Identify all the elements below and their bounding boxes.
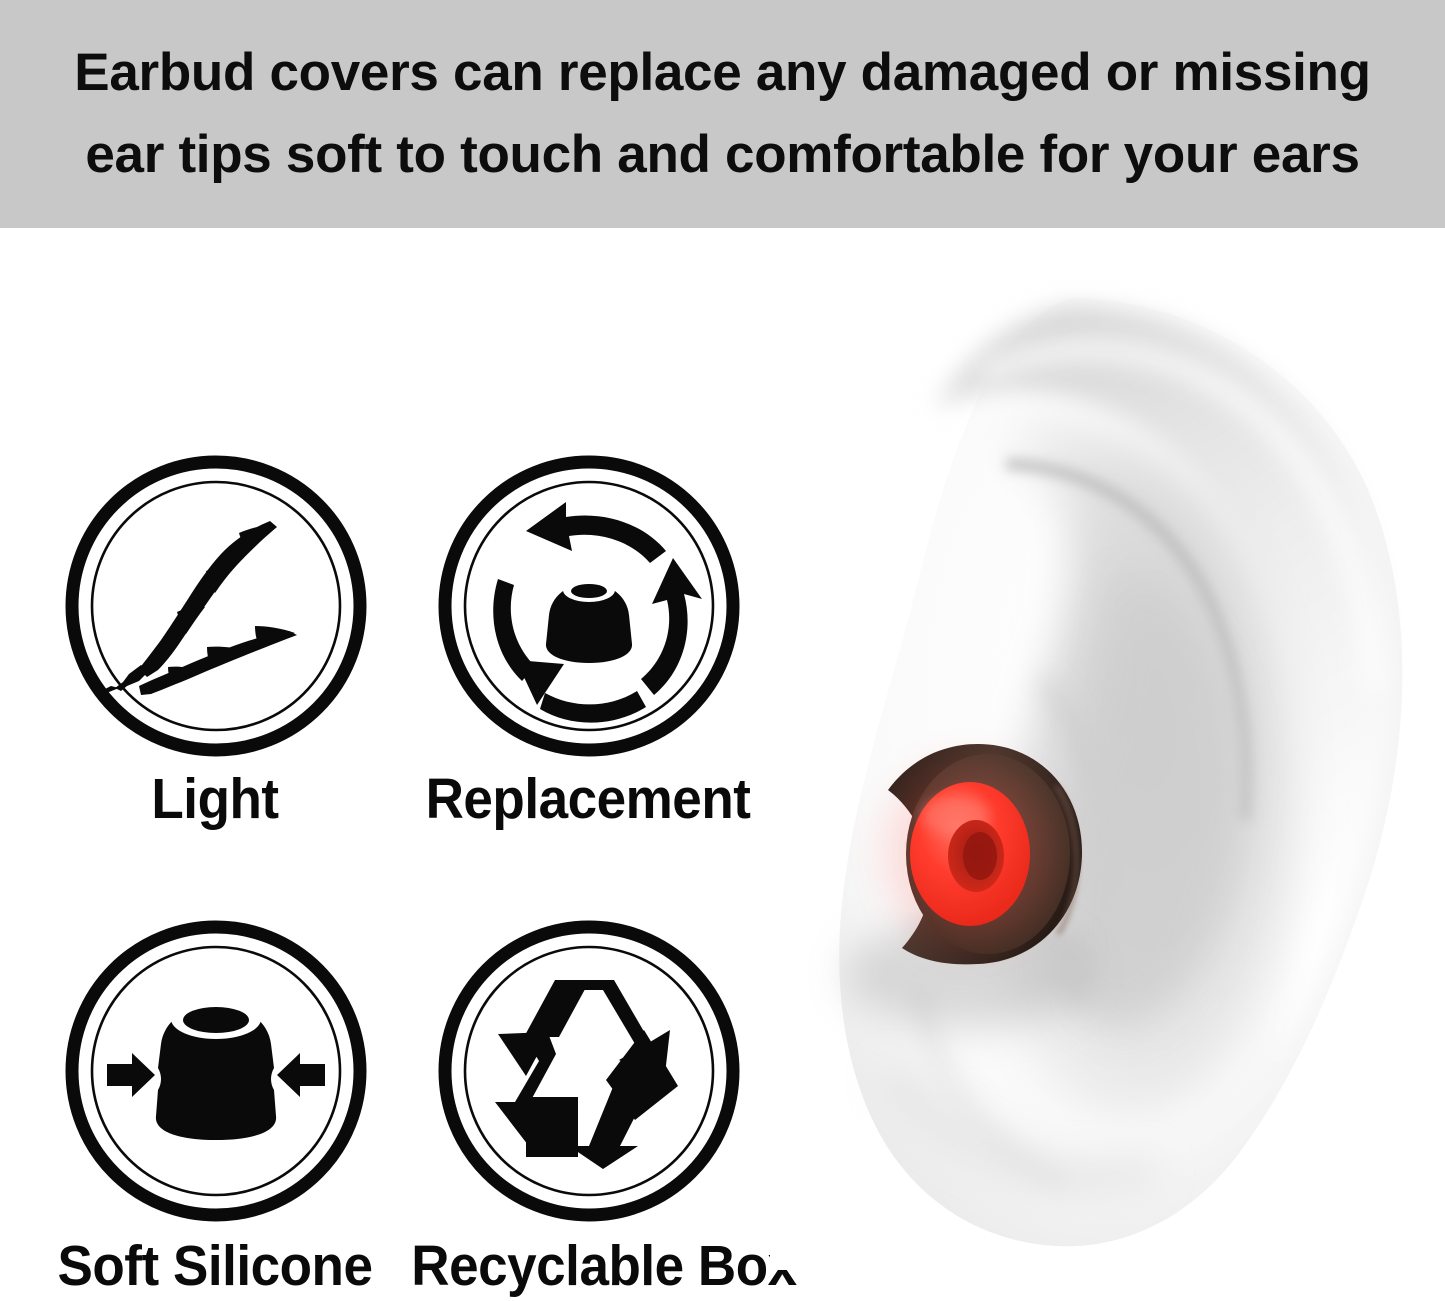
- feature-item-soft-silicone: Soft Silicone: [25, 893, 405, 1301]
- feather-icon: [65, 455, 367, 757]
- recycle-icon: [438, 920, 740, 1222]
- feature-label: Replacement: [411, 766, 764, 832]
- feature-label: Recyclable Box: [411, 1233, 764, 1299]
- feature-item-replacement: Replacement: [398, 428, 778, 848]
- header-banner: Earbud covers can replace any damaged or…: [0, 0, 1445, 228]
- header-line-1: Earbud covers can replace any damaged or…: [74, 32, 1370, 114]
- feature-label: Soft Silicone: [38, 1233, 391, 1299]
- feature-label: Light: [38, 766, 391, 832]
- feature-item-recyclable-box: Recyclable Box: [398, 893, 778, 1301]
- feature-item-light: Light: [25, 428, 405, 848]
- cycle-arrows-icon: [438, 455, 740, 757]
- infographic-page: Earbud covers can replace any damaged or…: [0, 0, 1445, 1301]
- squeeze-eartip-icon: [65, 920, 367, 1222]
- header-line-2: ear tips soft to touch and comfortable f…: [85, 114, 1359, 196]
- feature-grid: Light: [0, 228, 800, 1301]
- ear-with-earbud-tip: [770, 250, 1445, 1270]
